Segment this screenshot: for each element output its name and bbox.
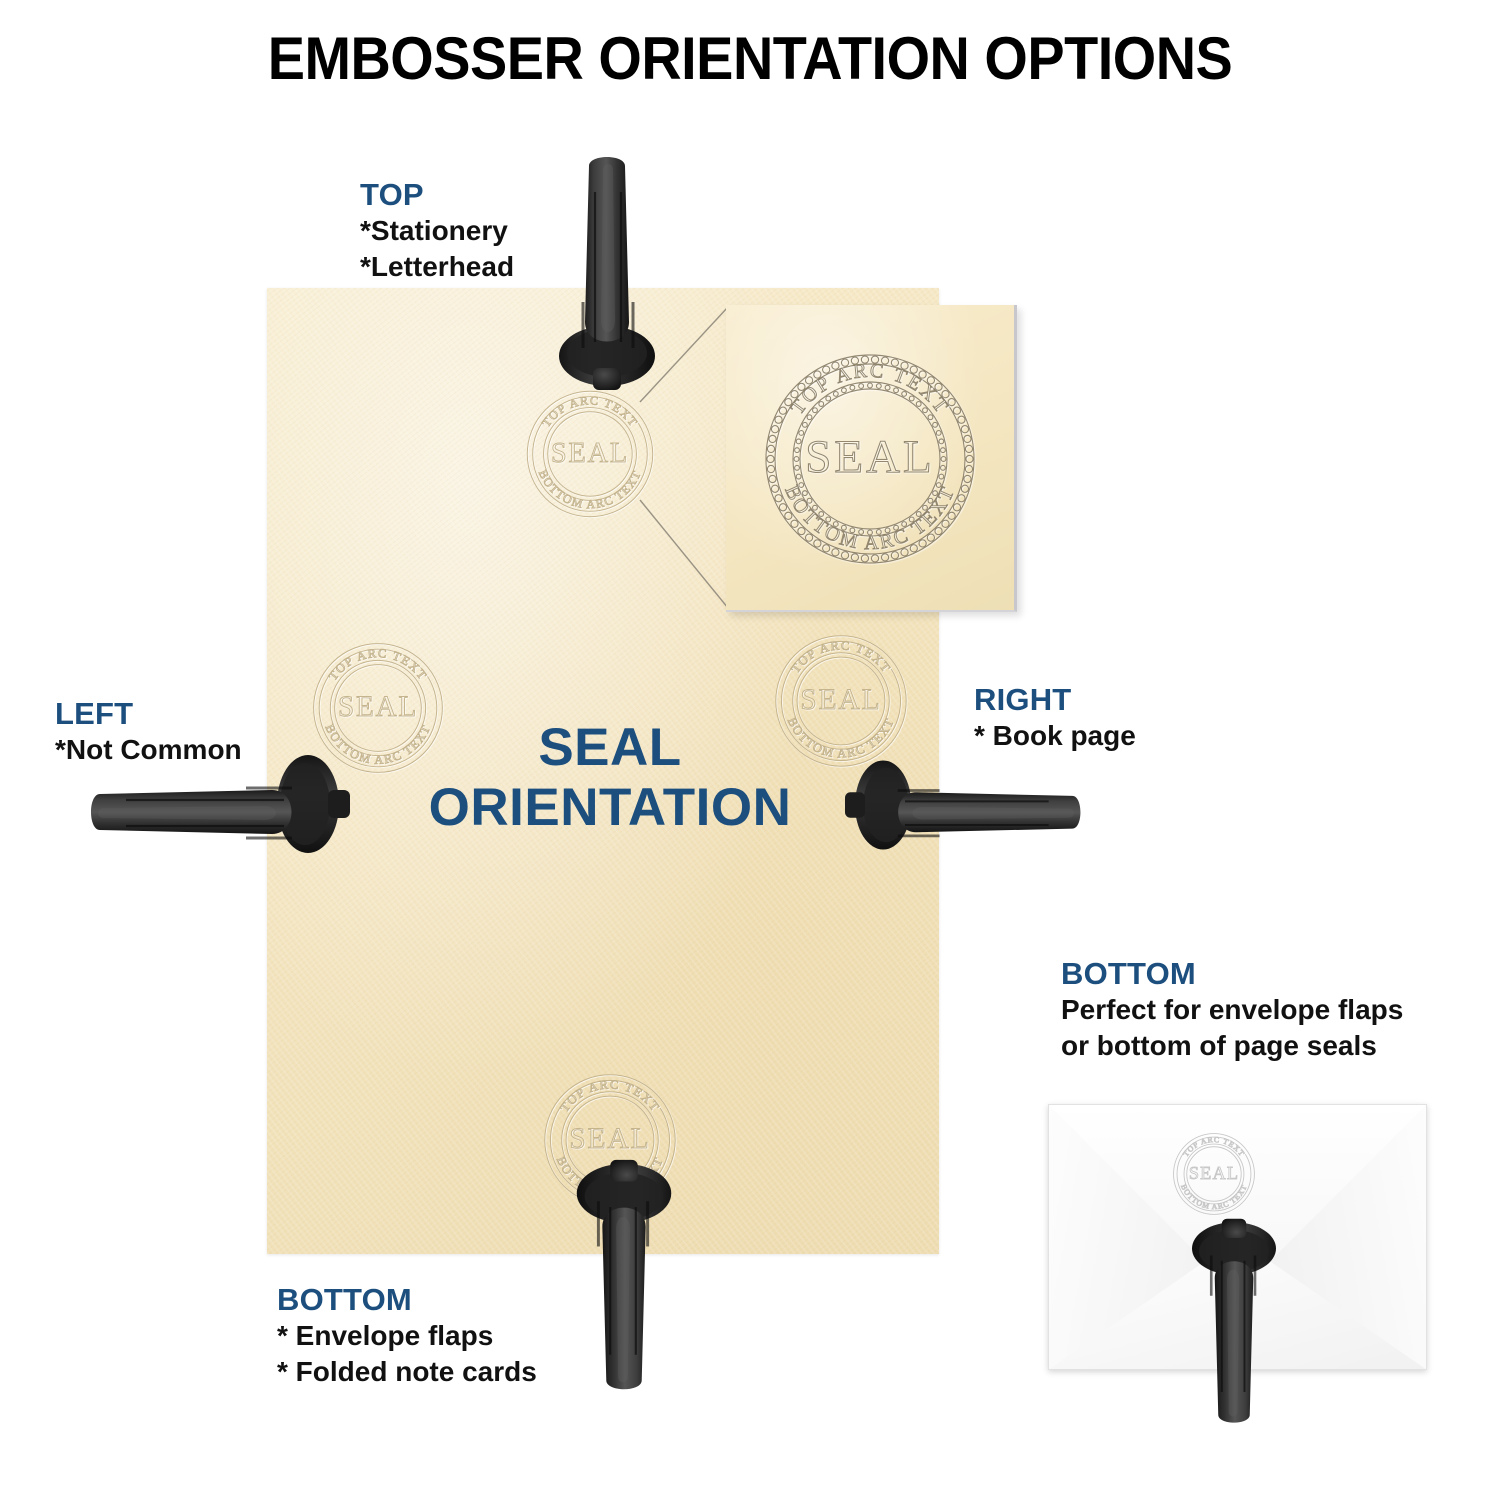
label-left-heading: LEFT (55, 697, 242, 732)
label-bottom-paper-heading: BOTTOM (277, 1283, 537, 1318)
label-left-line-1: *Not Common (55, 732, 242, 768)
label-bottom-envelope-heading: BOTTOM (1061, 957, 1403, 992)
page-title: EMBOSSER ORIENTATION OPTIONS (53, 24, 1448, 93)
seal-orientation-headline: SEAL ORIENTATION (340, 718, 880, 838)
embosser-tool-envelope (1178, 1207, 1290, 1437)
label-bottom-paper-line-2: * Folded note cards (277, 1354, 537, 1390)
headline-line-1: SEAL (538, 718, 681, 777)
seal-center-text: SEAL (805, 431, 935, 483)
label-right-heading: RIGHT (974, 683, 1136, 718)
embosser-tool-top (543, 152, 671, 392)
magnified-seal-panel: TOP ARC TEXT BOTTOM ARC TEXT SEAL (726, 305, 1017, 612)
seal-imprint-magnified: TOP ARC TEXT BOTTOM ARC TEXT SEAL (744, 333, 996, 585)
svg-text:BOTTOM ARC TEXT: BOTTOM ARC TEXT (536, 468, 644, 512)
label-bottom-envelope: BOTTOM Perfect for envelope flaps or bot… (1061, 957, 1403, 1063)
label-left: LEFT *Not Common (55, 697, 242, 768)
label-bottom-envelope-line-1: Perfect for envelope flaps (1061, 992, 1403, 1028)
label-bottom-paper: BOTTOM * Envelope flaps * Folded note ca… (277, 1283, 537, 1389)
svg-text:SEAL: SEAL (800, 684, 881, 716)
headline-line-2: ORIENTATION (340, 778, 880, 838)
seal-imprint-top: TOP ARC TEXT BOTTOM ARC TEXT SEAL (514, 378, 666, 530)
label-right-line-1: * Book page (974, 718, 1136, 754)
label-top-heading: TOP (360, 178, 514, 213)
svg-text:SEAL: SEAL (551, 438, 629, 469)
label-top: TOP *Stationery *Letterhead (360, 178, 514, 284)
svg-text:SEAL: SEAL (569, 1123, 650, 1155)
label-bottom-envelope-line-2: or bottom of page seals (1061, 1028, 1403, 1064)
embosser-tool-right (845, 750, 1085, 860)
label-bottom-paper-line-1: * Envelope flaps (277, 1318, 537, 1354)
svg-text:SEAL: SEAL (1189, 1163, 1239, 1183)
infographic-canvas: EMBOSSER ORIENTATION OPTIONS (0, 0, 1500, 1500)
embosser-tool-bottom-paper (561, 1152, 687, 1400)
label-top-line-2: *Letterhead (360, 249, 514, 285)
label-right: RIGHT * Book page (974, 683, 1136, 754)
label-top-line-1: *Stationery (360, 213, 514, 249)
